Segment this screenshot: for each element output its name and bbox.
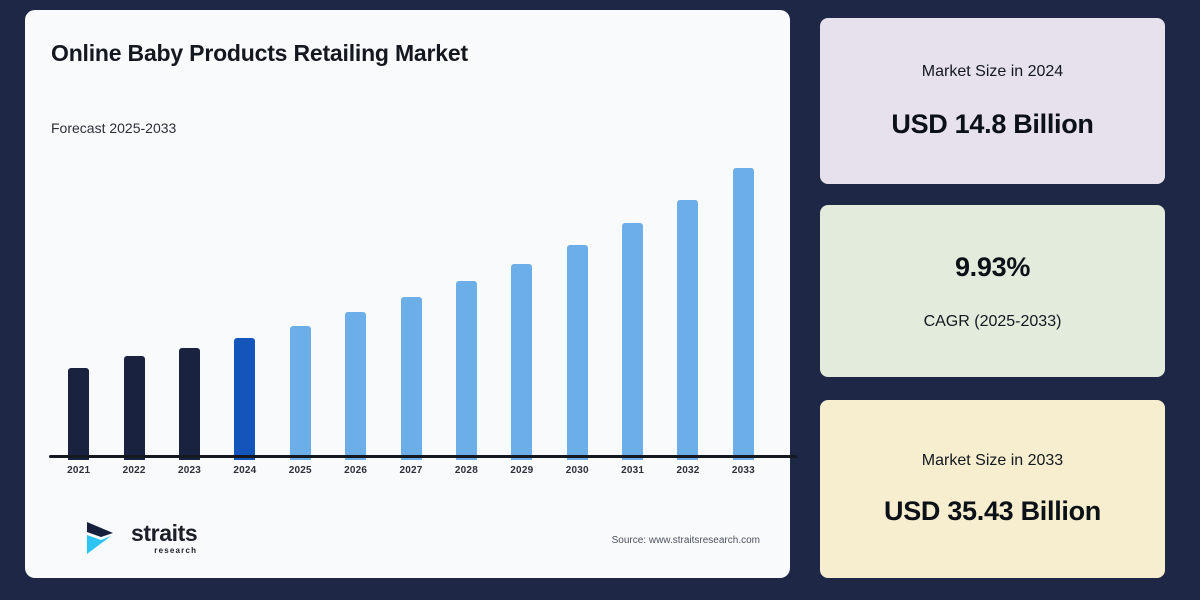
x-tick-2028: 2028	[439, 465, 494, 476]
logo-text: straits research	[131, 522, 197, 555]
bar-slot	[106, 155, 161, 460]
bar-2024	[234, 338, 255, 460]
arrow-logo-icon	[83, 516, 127, 560]
bar-slot	[162, 155, 217, 460]
straits-research-logo: straits research	[83, 516, 197, 560]
stat-card-cagr: 9.93% CAGR (2025-2033)	[820, 205, 1165, 377]
bar-2029	[511, 264, 532, 460]
stat-card-label: Market Size in 2024	[922, 63, 1063, 81]
bar-slot	[383, 155, 438, 460]
infographic-root: Online Baby Products Retailing Market Fo…	[0, 0, 1200, 600]
x-tick-2022: 2022	[106, 465, 161, 476]
x-tick-2027: 2027	[383, 465, 438, 476]
bar-slot	[439, 155, 494, 460]
bar-2033	[733, 168, 754, 460]
chart-panel: Online Baby Products Retailing Market Fo…	[25, 10, 790, 578]
bar-2025	[290, 326, 311, 460]
bar-2021	[68, 368, 89, 460]
stat-card-value: USD 14.8 Billion	[891, 109, 1093, 140]
bar-2026	[345, 312, 366, 460]
stat-card-market-size-2033: Market Size in 2033 USD 35.43 Billion	[820, 400, 1165, 578]
x-tick-2033: 2033	[716, 465, 771, 476]
chart-subtitle: Forecast 2025-2033	[51, 120, 176, 136]
bar-2023	[179, 348, 200, 460]
source-attribution: Source: www.straitsresearch.com	[612, 535, 760, 546]
bar-slot	[660, 155, 715, 460]
bar-slot	[217, 155, 272, 460]
bar-slot	[550, 155, 605, 460]
bar-slot	[51, 155, 106, 460]
stat-card-market-size-2024: Market Size in 2024 USD 14.8 Billion	[820, 18, 1165, 184]
bar-2027	[401, 297, 422, 460]
x-tick-2032: 2032	[660, 465, 715, 476]
x-axis-line	[49, 455, 797, 458]
x-tick-2024: 2024	[217, 465, 272, 476]
stat-card-value: 9.93%	[955, 252, 1030, 283]
x-tick-2030: 2030	[550, 465, 605, 476]
x-tick-2026: 2026	[328, 465, 383, 476]
page-title: Online Baby Products Retailing Market	[51, 40, 468, 67]
bar-slot	[328, 155, 383, 460]
stat-card-value: USD 35.43 Billion	[884, 496, 1101, 527]
bar-slot	[494, 155, 549, 460]
stat-card-label: Market Size in 2033	[922, 452, 1063, 470]
bar-2028	[456, 281, 477, 460]
bar-2030	[567, 245, 588, 460]
bar-slot	[273, 155, 328, 460]
bar-slot	[605, 155, 660, 460]
logo-word: straits	[131, 522, 197, 545]
x-axis-tick-labels: 2021202220232024202520262027202820292030…	[51, 465, 771, 476]
logo-subword: research	[131, 547, 197, 555]
bar-2032	[677, 200, 698, 460]
x-tick-2021: 2021	[51, 465, 106, 476]
stat-card-label: CAGR (2025-2033)	[924, 313, 1062, 331]
x-tick-2031: 2031	[605, 465, 660, 476]
x-tick-2029: 2029	[494, 465, 549, 476]
x-tick-2023: 2023	[162, 465, 217, 476]
bar-2022	[124, 356, 145, 460]
bar-series	[51, 155, 771, 460]
bar-2031	[622, 223, 643, 460]
bar-slot	[716, 155, 771, 460]
x-tick-2025: 2025	[273, 465, 328, 476]
bar-chart-plot	[51, 150, 771, 460]
